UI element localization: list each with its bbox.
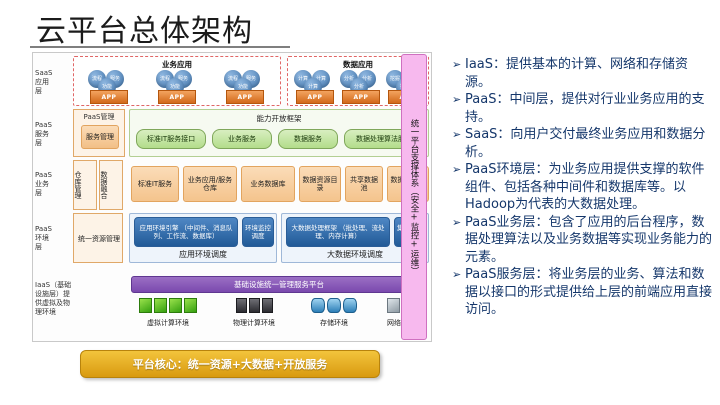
app-env-engine[interactable]: 应用环境引擎 （中间件、消息队列、工作流、数据库） — [134, 217, 238, 247]
list-item: ➢ IaaS：提供基本的计算、网络和存储资源。 — [452, 56, 714, 91]
infra-caption: 存储环境 — [301, 318, 367, 328]
saas-app-icon[interactable]: 分析 分析 分析 APP — [338, 70, 384, 104]
bullet-text: SaaS：向用户交付最终业务应用和数据分析。 — [465, 126, 714, 161]
capability-item-2[interactable]: 数据服务 — [278, 129, 338, 149]
paas-business-side-0[interactable]: 仓库管理 — [73, 160, 97, 210]
bullet-text: PaaS：中间层，提供对行业业务应用的支持。 — [465, 91, 714, 126]
cube-icon — [184, 298, 197, 313]
app-base-label: APP — [342, 90, 380, 104]
capability-item-1[interactable]: 业务服务 — [212, 129, 272, 149]
unified-support-bar-label: 统一平台支撑体系（安全+监控+运维） — [408, 119, 420, 275]
saas-group-business-title: 业务应用 — [74, 59, 280, 70]
bullet-marker-icon: ➢ — [452, 126, 465, 144]
paas-management-item[interactable]: 服务管理 — [81, 125, 119, 149]
app-base-label: APP — [296, 90, 334, 104]
app-env-monitor[interactable]: 环境监控调度 — [242, 217, 274, 247]
app-base-label: APP — [90, 90, 128, 104]
paas-business-item-2[interactable]: 业务数据库 — [241, 166, 295, 202]
bullet-marker-icon: ➢ — [452, 161, 465, 179]
list-item: ➢ PaaS业务层：包含了应用的后台程序，数据处理算法以及业务数据等实现业务能力… — [452, 214, 714, 267]
paas-business-item-1[interactable]: 业务应用/服务仓库 — [183, 166, 237, 202]
saas-app-icon[interactable]: 流程 服务 功能 APP — [86, 70, 132, 104]
row-label-paas-service: PaaS服务层 — [35, 121, 71, 148]
database-icon — [343, 298, 357, 313]
capability-framework: 能力开放框架 标准IT服务接口 业务服务 数据服务 数据处理算法服务 — [129, 109, 429, 157]
app-base-label: APP — [226, 90, 264, 104]
infrastructure-platform-bar[interactable]: 基础设施统一管理服务平台 — [131, 276, 427, 293]
list-item: ➢ SaaS：向用户交付最终业务应用和数据分析。 — [452, 126, 714, 161]
capability-item-0[interactable]: 标准IT服务接口 — [136, 129, 206, 149]
bullet-text: PaaS服务层：将业务层的业务、算法和数据以接口的形式提供给上层的前端应用直接访… — [465, 266, 714, 319]
bullet-text: IaaS：提供基本的计算、网络和存储资源。 — [465, 56, 714, 91]
unified-resource-mgmt[interactable]: 统一资源管理 — [73, 213, 123, 263]
cube-icon — [169, 298, 182, 313]
page-title: 云平台总体架构 — [36, 6, 253, 50]
bullet-list: ➢ IaaS：提供基本的计算、网络和存储资源。 ➢ PaaS：中间层，提供对行业… — [452, 56, 714, 319]
bullet-text: PaaS业务层：包含了应用的后台程序，数据处理算法以及业务数据等实现业务能力的元… — [465, 214, 714, 267]
side-label: 仓库管理 — [74, 161, 82, 209]
paas-business-item-3[interactable]: 数据资源目录 — [299, 166, 341, 202]
slide-canvas: 云平台总体架构 SaaS应用层 业务应用 流程 服务 功能 APP 流程 — [0, 0, 720, 405]
paas-management-header: PaaS管理 — [74, 110, 124, 122]
saas-app-icon[interactable]: 计算 计算 计算 APP — [292, 70, 338, 104]
row-label-iaas: IaaS（基础设施层）提供虚拟及物理环境 — [35, 281, 73, 317]
list-item: ➢ PaaS：中间层，提供对行业业务应用的支持。 — [452, 91, 714, 126]
infra-caption: 虚拟计算环境 — [129, 318, 207, 328]
paas-business-item-4[interactable]: 共享数据池 — [345, 166, 383, 202]
infra-group-virtual: 虚拟计算环境 — [129, 298, 207, 328]
unified-resource-mgmt-label: 统一资源管理 — [78, 218, 120, 260]
database-icon — [311, 298, 325, 313]
saas-group-business: 业务应用 流程 服务 功能 APP 流程 服务 功能 APP — [73, 56, 281, 106]
paas-environment-layer: 统一资源管理 应用环境引擎 （中间件、消息队列、工作流、数据库） 环境监控调度 … — [73, 213, 429, 271]
row-label-paas-env: PaaS环境层 — [35, 225, 71, 252]
architecture-diagram: SaaS应用层 业务应用 流程 服务 功能 APP 流程 服务 功能 — [32, 52, 432, 342]
iaas-layer: 基础设施统一管理服务平台 虚拟计算环境 物理计算环境 存储环境 网络环境 — [73, 274, 429, 338]
infra-group-storage: 存储环境 — [301, 298, 367, 328]
paas-business-side-1[interactable]: 数据融合 — [99, 160, 123, 210]
bullet-text: PaaS环境层：为业务应用提供支撑的软件组件、包括各种中间件和数据库等。以Had… — [465, 161, 714, 214]
app-env-group: 应用环境引擎 （中间件、消息队列、工作流、数据库） 环境监控调度 应用环境调度 — [129, 213, 277, 263]
list-item: ➢ PaaS环境层：为业务应用提供支撑的软件组件、包括各种中间件和数据库等。以H… — [452, 161, 714, 214]
saas-app-icon[interactable]: 流程 服务 功能 APP — [222, 70, 268, 104]
list-item: ➢ PaaS服务层：将业务层的业务、算法和数据以接口的形式提供给上层的前端应用直… — [452, 266, 714, 319]
row-label-saas: SaaS应用层 — [35, 69, 71, 96]
server-rack-icon — [236, 298, 247, 313]
saas-app-icon[interactable]: 流程 服务 功能 APP — [154, 70, 200, 104]
paas-business-layer: 仓库管理 数据融合 标准IT服务 业务应用/服务仓库 业务数据库 数据资源目录 … — [73, 160, 429, 210]
bullet-marker-icon: ➢ — [452, 214, 465, 232]
network-node-icon — [387, 298, 400, 313]
capability-framework-title: 能力开放框架 — [130, 113, 428, 124]
side-label: 数据融合 — [100, 161, 108, 209]
server-rack-icon — [249, 298, 260, 313]
infra-caption: 物理计算环境 — [219, 318, 289, 328]
cube-icon — [139, 298, 152, 313]
database-icon — [327, 298, 341, 313]
platform-core-banner: 平台核心：统一资源+大数据+开放服务 — [80, 350, 380, 378]
row-label-paas-business: PaaS业务层 — [35, 171, 71, 198]
title-underline — [30, 46, 290, 48]
paas-business-item-0[interactable]: 标准IT服务 — [131, 166, 179, 202]
unified-support-bar[interactable]: 统一平台支撑体系（安全+监控+运维） — [401, 54, 427, 340]
bullet-marker-icon: ➢ — [452, 91, 465, 109]
app-base-label: APP — [158, 90, 196, 104]
server-rack-icon — [262, 298, 273, 313]
cube-icon — [154, 298, 167, 313]
bullet-marker-icon: ➢ — [452, 56, 465, 74]
app-env-footer: 应用环境调度 — [130, 249, 276, 260]
saas-layer: 业务应用 流程 服务 功能 APP 流程 服务 功能 APP — [73, 56, 429, 106]
paas-service-layer: PaaS管理 服务管理 能力开放框架 标准IT服务接口 业务服务 数据服务 数据… — [73, 109, 429, 157]
paas-management-cell: PaaS管理 服务管理 — [73, 109, 125, 157]
infra-group-physical: 物理计算环境 — [219, 298, 289, 328]
bullet-marker-icon: ➢ — [452, 266, 465, 284]
bigdata-env-engine[interactable]: 大数据处理框架 （批处理、流处理、内存计算） — [286, 217, 390, 247]
